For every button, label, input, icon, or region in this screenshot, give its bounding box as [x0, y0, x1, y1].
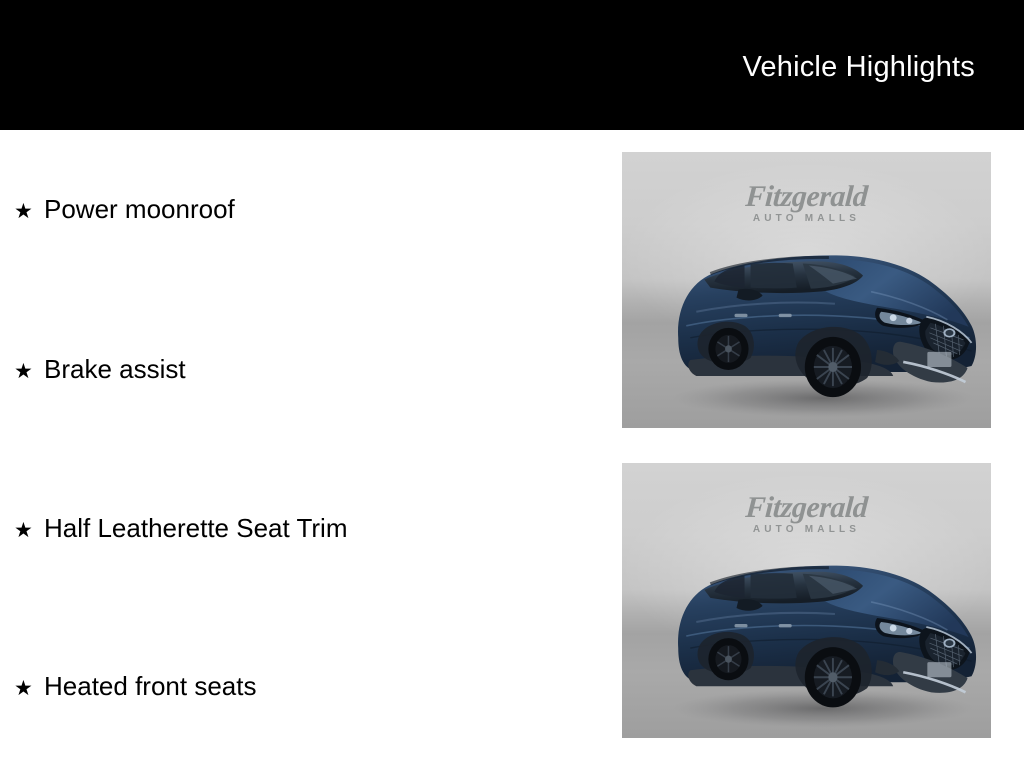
- list-item: ★ Heated front seats: [14, 671, 256, 704]
- star-icon: ★: [14, 516, 44, 546]
- list-item: ★ Brake assist: [14, 354, 186, 387]
- highlight-label: Heated front seats: [44, 671, 256, 701]
- content-area: ★ Power moonroof ★ Brake assist ★ Half L…: [0, 130, 1024, 768]
- highlight-label: Brake assist: [44, 354, 186, 384]
- vehicle-photo[interactable]: Fitzgerald AUTO MALLS: [622, 463, 991, 738]
- list-item: ★ Power moonroof: [14, 194, 235, 227]
- star-icon: ★: [14, 357, 44, 387]
- list-item: ★ Half Leatherette Seat Trim: [14, 513, 347, 546]
- vehicle-photo[interactable]: Fitzgerald AUTO MALLS: [622, 152, 991, 428]
- star-icon: ★: [14, 197, 44, 227]
- star-icon: ★: [14, 674, 44, 704]
- highlight-label: Half Leatherette Seat Trim: [44, 513, 347, 543]
- car-illustration: [626, 218, 988, 422]
- header-bar: Vehicle Highlights: [0, 0, 1024, 130]
- vehicle-highlights-list: ★ Power moonroof ★ Brake assist ★ Half L…: [0, 130, 610, 768]
- page-title: Vehicle Highlights: [742, 50, 975, 84]
- highlight-label: Power moonroof: [44, 194, 235, 224]
- car-illustration: [626, 529, 988, 733]
